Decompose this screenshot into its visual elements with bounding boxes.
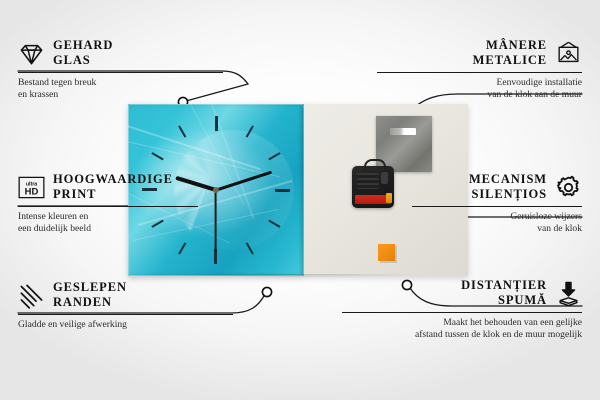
feature-desc-line1: Geruisloze wijzers xyxy=(412,211,582,223)
diagonal-lines-icon xyxy=(18,282,45,309)
feature-desc-line2: een duidelijk beeld xyxy=(18,223,198,235)
feature-title-line2: PRINT xyxy=(53,187,173,202)
quartz-movement xyxy=(352,166,394,208)
feature-desc-line1: Gladde en veilige afwerking xyxy=(18,319,233,331)
gear-icon xyxy=(555,174,582,201)
feature-desc-line1: Eenvoudige installatie xyxy=(377,77,582,89)
feature-desc-line2: afstand tussen de klok en de muur mogeli… xyxy=(342,329,582,341)
feature-distantier-spuma: DISTANȚIER SPUMĂ Maakt het behouden van … xyxy=(342,278,582,342)
feature-title-line2: SILENȚIOS xyxy=(469,187,547,202)
clock-center-cap xyxy=(213,187,219,193)
feature-title-line1: MÂNERE xyxy=(473,38,547,53)
svg-text:HD: HD xyxy=(25,186,39,197)
feature-hoogwaardige-print: ultra HD HOOGWAARDIGE PRINT Intense kleu… xyxy=(18,172,198,236)
feature-title-line1: MECANISM xyxy=(469,172,547,187)
feature-desc-line2: van de klok aan de muur xyxy=(377,89,582,101)
feature-desc-line1: Intense kleuren en xyxy=(18,211,198,223)
infographic-canvas: GEHARD GLAS Bestand tegen breuk en krass… xyxy=(0,0,600,400)
movement-shaft xyxy=(381,172,388,184)
feature-mecanism-silentios: MECANISM SILENȚIOS Geruisloze wijzers va… xyxy=(412,172,582,236)
foam-spacer xyxy=(378,244,395,261)
feature-gehard-glas: GEHARD GLAS Bestand tegen breuk en krass… xyxy=(18,38,223,102)
down-arrow-spacer-icon xyxy=(555,280,582,307)
feature-title-line1: DISTANȚIER xyxy=(461,278,547,293)
feature-title-line1: GEHARD xyxy=(53,38,113,53)
feature-desc-line1: Bestand tegen breuk xyxy=(18,77,223,89)
wall-frame-icon xyxy=(555,40,582,67)
feature-title-line2: METALICE xyxy=(473,53,547,68)
feature-desc-line1: Maakt het behouden van een gelijke xyxy=(342,317,582,329)
diamond-icon xyxy=(18,40,45,67)
feature-title-line2: SPUMĂ xyxy=(461,293,547,308)
ultra-hd-icon: ultra HD xyxy=(18,174,45,201)
hanging-loop xyxy=(364,159,386,171)
feature-geslepen-randen: GESLEPEN RANDEN Gladde en veilige afwerk… xyxy=(18,280,233,331)
feature-manere-metalice: MÂNERE METALICE Eenvoudige installatie v… xyxy=(377,38,582,102)
clock-second-hand xyxy=(215,190,217,252)
feature-title-line2: GLAS xyxy=(53,53,113,68)
feature-desc-line2: van de klok xyxy=(412,223,582,235)
feature-title-line2: RANDEN xyxy=(53,295,127,310)
feature-title-line1: HOOGWAARDIGE xyxy=(53,172,173,187)
endpoint-geslepen-randen xyxy=(262,287,271,296)
battery xyxy=(355,195,391,204)
movement-grille xyxy=(357,173,379,189)
feature-title-line1: GESLEPEN xyxy=(53,280,127,295)
feature-desc-line2: en krassen xyxy=(18,89,223,101)
